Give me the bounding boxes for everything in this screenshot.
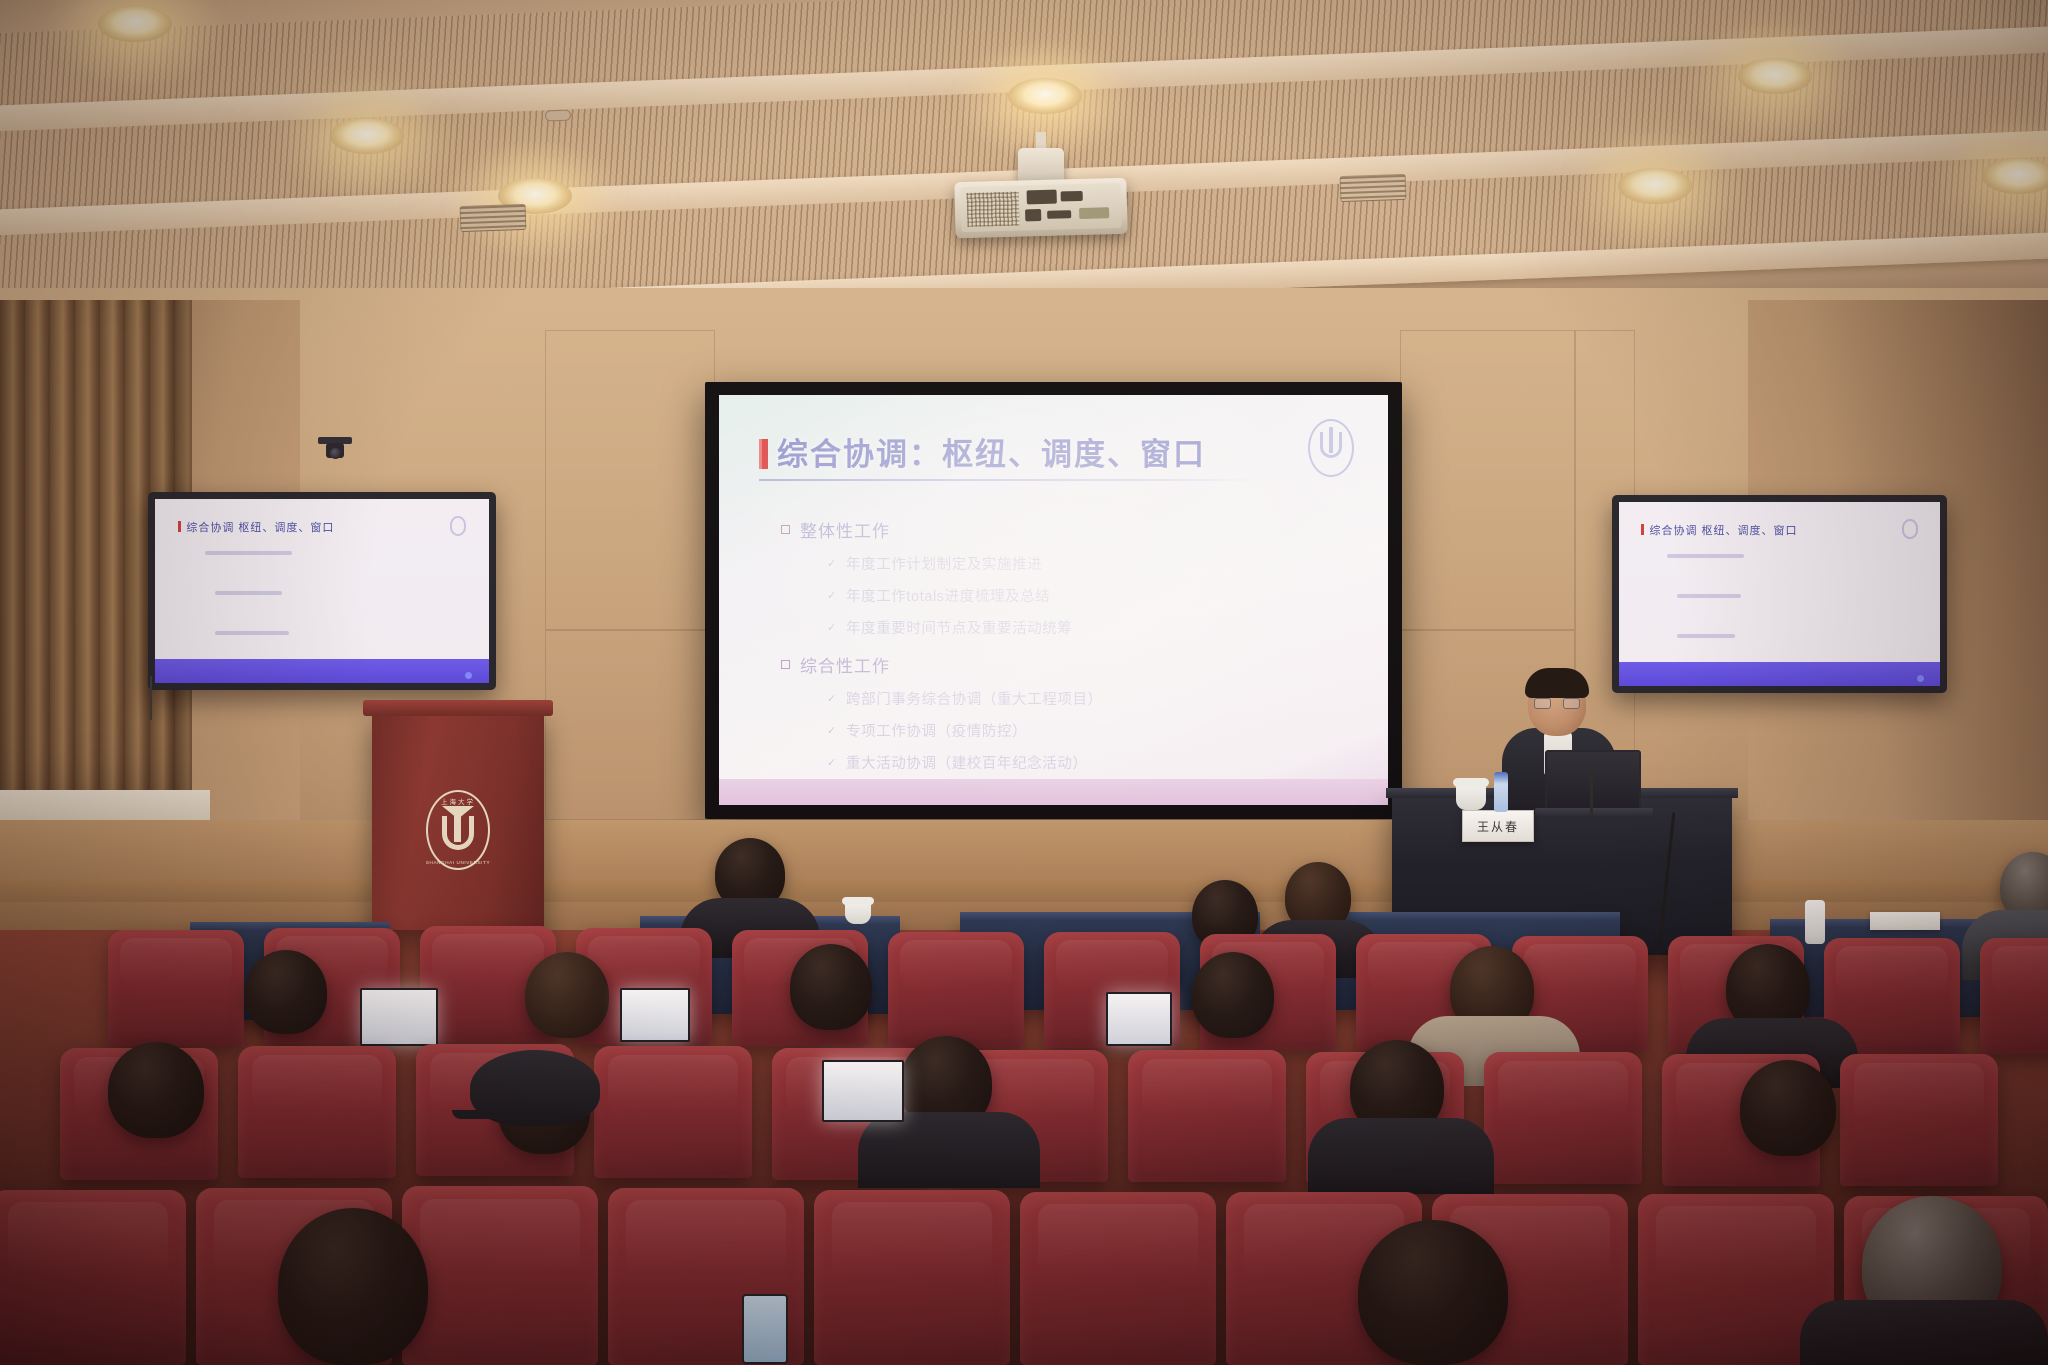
slide-title-underline	[759, 479, 1254, 481]
check-bullet-icon: ✓	[827, 591, 837, 601]
display-text-line	[1677, 634, 1735, 638]
check-bullet-icon: ✓	[827, 694, 837, 704]
display-text-line	[215, 631, 288, 635]
slide-bottom-band	[719, 779, 1388, 805]
emblem-english-text: SHANGHAI UNIVERSITY	[426, 860, 490, 865]
ceiling-downlight-icon	[1008, 78, 1082, 114]
audience-laptop[interactable]	[822, 1060, 904, 1122]
projector-lens	[1079, 207, 1109, 219]
university-emblem-icon: 上海大学 SHANGHAI UNIVERSITY	[426, 790, 490, 870]
audience-head	[278, 1208, 428, 1365]
auditorium-seat	[1980, 938, 2048, 1054]
auditorium-seat	[1020, 1192, 1216, 1365]
projection-screen-frame: 综合协调：枢纽、调度、窗口 整体性工作 ✓ 年度工作计划制定及实施推进 ✓ 年度…	[705, 382, 1402, 819]
presenter-laptop[interactable]	[1545, 750, 1641, 812]
auditorium-seat	[238, 1046, 396, 1178]
nameplate: 王从春	[1462, 810, 1534, 842]
auditorium-seat	[1840, 1054, 1998, 1186]
display-text-line	[1677, 594, 1741, 598]
slide-title-accent-bar	[759, 439, 768, 469]
projector-detail	[1025, 209, 1041, 221]
projector-detail	[1047, 210, 1071, 219]
camera-lens-icon	[330, 448, 341, 459]
slide-bullet-item: ✓ 年度重要时间节点及重要活动统筹	[827, 617, 1358, 638]
emblem-chinese-text: 上海大学	[441, 796, 475, 806]
display-text-line	[205, 551, 292, 555]
wall-panel	[545, 630, 715, 820]
thermos	[1805, 900, 1825, 944]
audience-phone[interactable]	[742, 1294, 788, 1364]
teacup-lid	[842, 897, 874, 905]
audience-head	[1740, 1060, 1836, 1156]
slide-section-heading: 整体性工作	[781, 517, 1358, 542]
left-display-title: 综合协调 枢纽、调度、窗口	[178, 519, 334, 535]
left-display-screen: 综合协调 枢纽、调度、窗口	[155, 499, 489, 683]
projector-detail	[1061, 191, 1083, 202]
slide-title-block: 综合协调：枢纽、调度、窗口	[759, 429, 1348, 481]
slide-bullet-item: ✓ 专项工作协调（疫情防控）	[827, 720, 1358, 741]
presenter-glasses-icon	[1534, 698, 1580, 709]
left-display-taskbar[interactable]	[155, 659, 489, 683]
ceiling-downlight-icon	[1618, 168, 1692, 204]
right-display-screen: 综合协调 枢纽、调度、窗口	[1619, 502, 1940, 686]
nameplate-text: 王从春	[1477, 818, 1519, 835]
audience-head	[1358, 1220, 1508, 1365]
ceiling-projector	[954, 178, 1127, 238]
audience-head	[108, 1042, 204, 1138]
air-vent-icon	[460, 204, 527, 232]
ceiling-downlight-icon	[1982, 158, 2048, 194]
slide-bullet-item: ✓ 跨部门事务综合协调（重大工程项目）	[827, 688, 1358, 709]
left-display-logo-icon	[450, 516, 466, 536]
wall-panel	[545, 330, 715, 630]
projector-detail	[1027, 190, 1057, 205]
check-bullet-icon: ✓	[827, 758, 837, 768]
air-vent-icon	[1340, 174, 1407, 202]
audience-head	[790, 944, 872, 1030]
presenter-laptop-base[interactable]	[1535, 808, 1653, 818]
ceiling-downlight-icon	[1738, 58, 1812, 94]
auditorium-seat	[402, 1186, 598, 1365]
audience-laptop[interactable]	[620, 988, 690, 1042]
right-display-taskbar[interactable]	[1619, 662, 1940, 686]
right-wall-display[interactable]: 综合协调 枢纽、调度、窗口	[1612, 495, 1947, 693]
water-bottle	[1494, 772, 1508, 812]
check-bullet-icon: ✓	[827, 623, 837, 633]
slide-body: 整体性工作 ✓ 年度工作计划制定及实施推进 ✓ 年度工作totals进度梳理及总…	[781, 503, 1358, 805]
projection-screen: 综合协调：枢纽、调度、窗口 整体性工作 ✓ 年度工作计划制定及实施推进 ✓ 年度…	[719, 395, 1388, 805]
slide-bullet-item: ✓ 年度工作totals进度梳理及总结	[827, 585, 1358, 606]
audience-shoulders	[1800, 1300, 2048, 1365]
right-display-logo-icon	[1902, 519, 1918, 539]
auditorium-scene: 综合协调 枢纽、调度、窗口 综合协调 枢纽、调度、窗口	[0, 0, 2048, 1365]
auditorium-seat	[1128, 1050, 1286, 1182]
audience-laptop[interactable]	[1106, 992, 1172, 1046]
auditorium-seat	[0, 1190, 186, 1365]
ceiling-downlight-icon	[98, 6, 172, 42]
auditorium-seat	[814, 1190, 1010, 1365]
slide-bullet-item: ✓ 重大活动协调（建校百年纪念活动）	[827, 752, 1358, 773]
title-accent-bar	[1641, 524, 1644, 535]
wall-panel	[1400, 330, 1575, 630]
podium-microphone-icon	[150, 676, 152, 720]
check-bullet-icon: ✓	[827, 559, 837, 569]
table-microphone-icon	[1590, 770, 1593, 818]
audience-head	[1192, 952, 1274, 1038]
lectern-top	[363, 700, 553, 716]
slide-title: 综合协调：枢纽、调度、窗口	[759, 429, 1348, 474]
title-accent-bar	[178, 521, 181, 532]
auditorium-seat	[108, 930, 244, 1046]
ceiling-downlight-icon	[330, 118, 404, 154]
slide-bullet-item: ✓ 年度工作计划制定及实施推进	[827, 553, 1358, 574]
lectern: 上海大学 SHANGHAI UNIVERSITY	[372, 712, 544, 930]
auditorium-seat	[1484, 1052, 1642, 1184]
audience-cap-brim-icon	[452, 1110, 562, 1119]
bullet-square-icon	[781, 525, 790, 534]
right-display-title: 综合协调 枢纽、调度、窗口	[1641, 522, 1797, 538]
slide-section-heading: 综合性工作	[781, 652, 1358, 677]
audience-head	[245, 950, 327, 1034]
display-text-line	[1667, 554, 1744, 558]
smoke-detector-icon	[545, 110, 571, 122]
left-wall-display[interactable]: 综合协调 枢纽、调度、窗口	[148, 492, 496, 690]
auditorium-seat	[888, 932, 1024, 1048]
audience-shoulders	[1308, 1118, 1494, 1194]
wall-camera-icon	[318, 437, 352, 459]
bullet-square-icon	[781, 660, 790, 669]
projector-face	[960, 183, 1121, 232]
papers	[1870, 912, 1940, 930]
audience-shoulders	[858, 1112, 1040, 1188]
display-text-line	[215, 591, 282, 595]
audience-head	[525, 952, 609, 1038]
teacup-lid	[1453, 778, 1489, 787]
check-bullet-icon: ✓	[827, 726, 837, 736]
stage-trim	[0, 880, 2048, 902]
presenter-hair	[1525, 668, 1589, 698]
audience-laptop[interactable]	[360, 988, 438, 1046]
auditorium-seat	[594, 1046, 752, 1178]
projector-vent-icon	[967, 192, 1020, 227]
